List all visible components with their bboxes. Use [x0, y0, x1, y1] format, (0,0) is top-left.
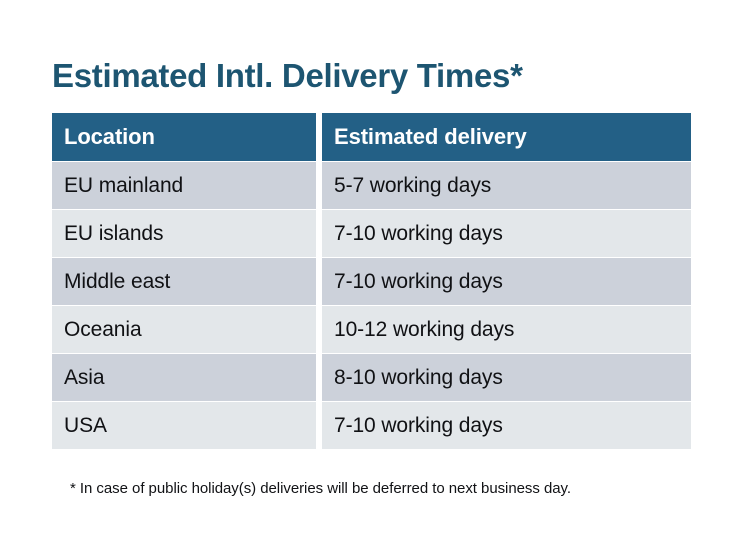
column-header-location: Location: [52, 113, 316, 161]
table-row: Oceania 10-12 working days: [52, 305, 691, 353]
table-body: EU mainland 5-7 working days EU islands …: [52, 161, 691, 449]
cell-location: EU islands: [52, 209, 316, 257]
table-row: USA 7-10 working days: [52, 401, 691, 449]
cell-location: Asia: [52, 353, 316, 401]
table-header: Location Estimated delivery: [52, 113, 691, 161]
page-title: Estimated Intl. Delivery Times*: [52, 58, 523, 94]
table-row: Asia 8-10 working days: [52, 353, 691, 401]
table-row: EU mainland 5-7 working days: [52, 161, 691, 209]
cell-delivery: 5-7 working days: [322, 161, 691, 209]
cell-delivery: 8-10 working days: [322, 353, 691, 401]
table-header-row: Location Estimated delivery: [52, 113, 691, 161]
cell-delivery: 10-12 working days: [322, 305, 691, 353]
delivery-times-page: Estimated Intl. Delivery Times* Location…: [0, 0, 745, 536]
cell-delivery: 7-10 working days: [322, 209, 691, 257]
cell-delivery: 7-10 working days: [322, 401, 691, 449]
cell-location: Middle east: [52, 257, 316, 305]
cell-location: USA: [52, 401, 316, 449]
cell-location: Oceania: [52, 305, 316, 353]
column-header-estimated-delivery: Estimated delivery: [322, 113, 691, 161]
table-row: EU islands 7-10 working days: [52, 209, 691, 257]
cell-delivery: 7-10 working days: [322, 257, 691, 305]
estimated-delivery-times-table: Location Estimated delivery EU mainland …: [52, 113, 691, 449]
table-row: Middle east 7-10 working days: [52, 257, 691, 305]
footnote: * In case of public holiday(s) deliverie…: [70, 480, 571, 497]
cell-location: EU mainland: [52, 161, 316, 209]
